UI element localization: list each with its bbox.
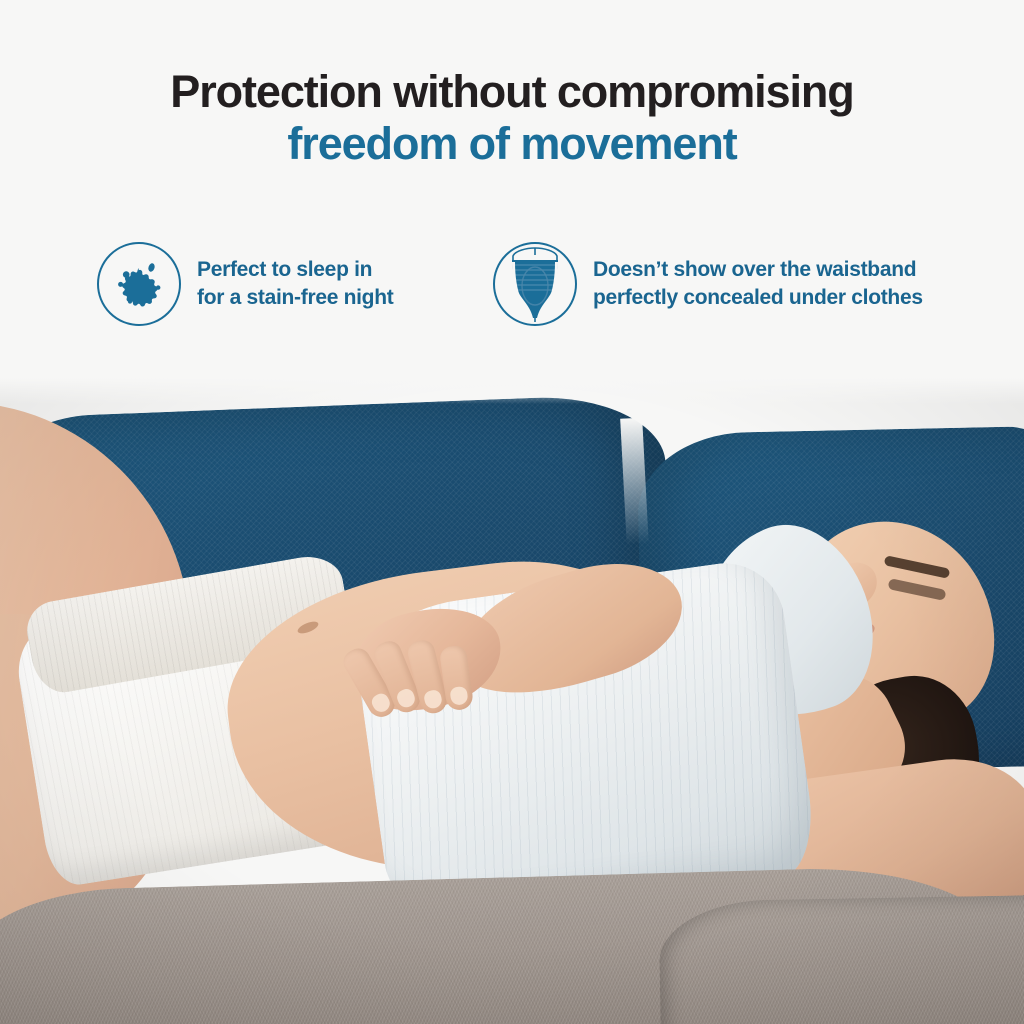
ink-splat-icon	[111, 256, 167, 312]
feature-1-line-2: for a stain-free night	[197, 284, 393, 312]
feature-2-line-2: perfectly concealed under clothes	[593, 284, 923, 312]
feature-icon-circle-2	[493, 242, 577, 326]
feature-item-sleep: Perfect to sleep in for a stain-free nig…	[97, 242, 393, 326]
fingernail	[449, 686, 468, 706]
product-feature-banner: Protection without compromising freedom …	[0, 0, 1024, 1024]
feature-text-2: Doesn’t show over the waistband perfectl…	[593, 256, 923, 312]
fingernail	[395, 687, 418, 710]
feature-2-line-1: Doesn’t show over the waistband	[593, 256, 923, 284]
feature-text-1: Perfect to sleep in for a stain-free nig…	[197, 256, 393, 312]
feature-item-discreet: Doesn’t show over the waistband perfectl…	[493, 242, 923, 326]
headline-line-2: freedom of movement	[0, 118, 1024, 170]
feature-list: Perfect to sleep in for a stain-free nig…	[0, 242, 1024, 342]
lifestyle-photo	[0, 378, 1024, 1024]
underwear-brief-icon	[504, 246, 566, 322]
sofa-seat-cushion-right	[658, 894, 1024, 1024]
feature-1-line-1: Perfect to sleep in	[197, 256, 393, 284]
fingernail	[423, 689, 444, 711]
headline-line-1: Protection without compromising	[0, 66, 1024, 118]
headline: Protection without compromising freedom …	[0, 66, 1024, 170]
feature-icon-circle-1	[97, 242, 181, 326]
